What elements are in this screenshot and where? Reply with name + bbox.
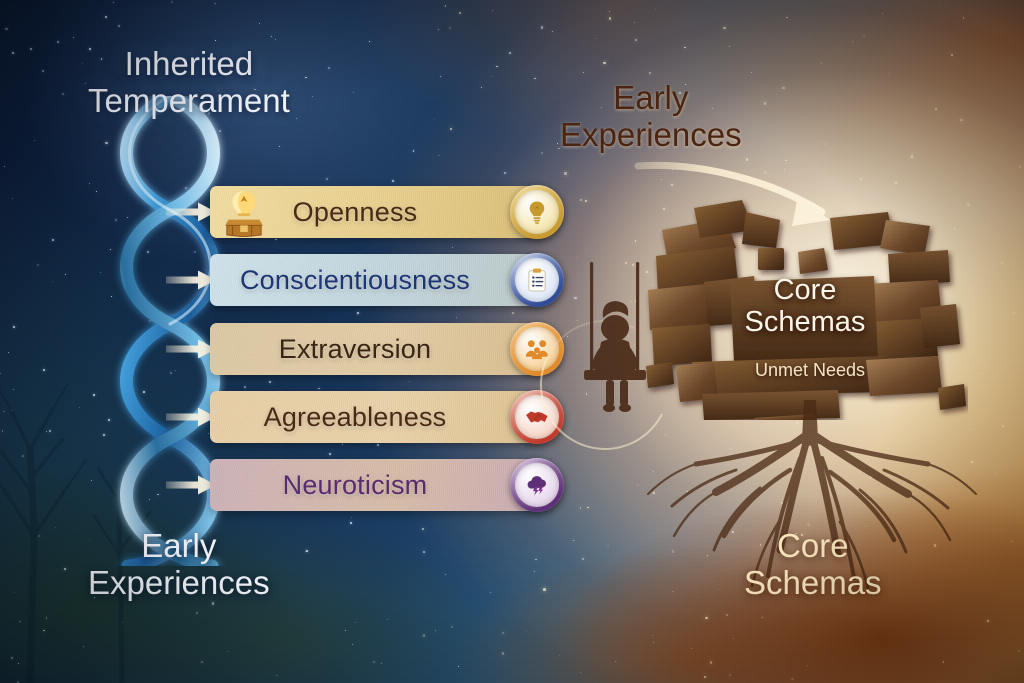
vignette-overlay <box>0 0 1024 683</box>
infographic-canvas: Openness <box>0 0 1024 683</box>
